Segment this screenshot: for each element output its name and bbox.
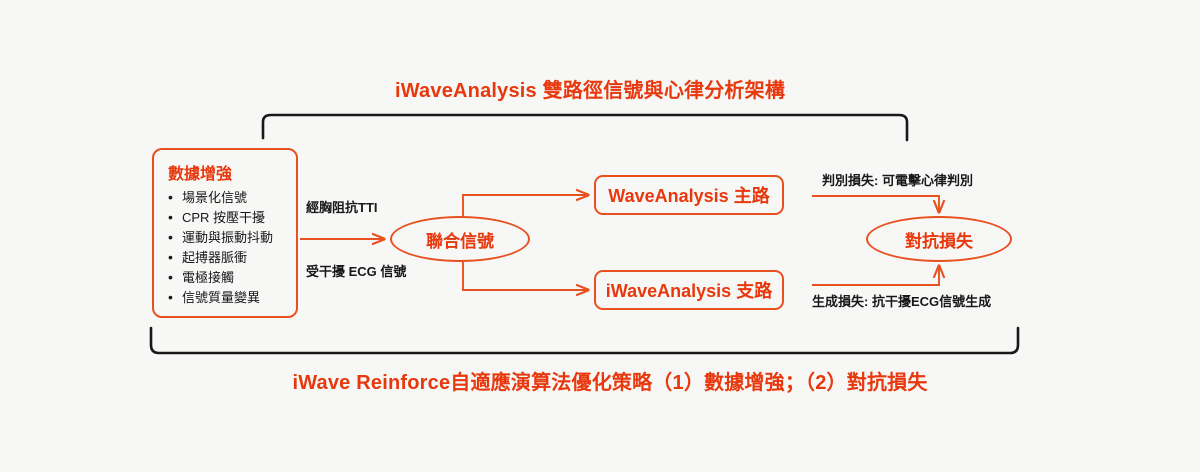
node-main-branch: WaveAnalysis 主路: [594, 175, 784, 215]
node-adversarial-loss: 對抗損失: [866, 216, 1012, 262]
data-augmentation-title: 數據增強: [168, 160, 288, 184]
data-augmentation-list: 場景化信號 CPR 按壓干擾 運動與振動抖動 起搏器脈衝 電極接觸 信號質量變異: [166, 188, 288, 308]
diagram-title-bottom: iWave Reinforce自適應演算法優化策略（1）數據增強；（2）對抗損失: [0, 366, 1200, 395]
bottom-bracket: [151, 328, 1018, 353]
edge-joint-to-sub: [463, 262, 588, 290]
list-item: CPR 按壓干擾: [166, 208, 288, 228]
node-joint-signal: 聯合信號: [390, 216, 530, 262]
data-augmentation-box: 數據增強 場景化信號 CPR 按壓干擾 運動與振動抖動 起搏器脈衝 電極接觸 信…: [152, 148, 298, 318]
edge-label-noisy-ecg: 受干擾 ECG 信號: [306, 261, 406, 280]
edge-label-generative-loss: 生成損失: 抗干擾ECG信號生成: [812, 291, 991, 310]
diagram-title-top: iWaveAnalysis 雙路徑信號與心律分析架構: [0, 74, 1180, 103]
edge-label-discriminative-loss: 判別損失: 可電擊心律判別: [822, 170, 973, 189]
list-item: 運動與振動抖動: [166, 228, 288, 248]
list-item: 場景化信號: [166, 188, 288, 208]
diagram-canvas: iWaveAnalysis 雙路徑信號與心律分析架構 數據增強 場景化信號 CP…: [0, 0, 1200, 472]
list-item: 電極接觸: [166, 268, 288, 288]
top-bracket: [263, 115, 907, 140]
list-item: 起搏器脈衝: [166, 248, 288, 268]
node-sub-branch: iWaveAnalysis 支路: [594, 270, 784, 310]
edge-sub-to-adv: [812, 266, 939, 285]
list-item: 信號質量變異: [166, 288, 288, 308]
edge-main-to-adv: [812, 196, 939, 212]
edge-joint-to-main: [463, 195, 588, 216]
edge-label-tti: 經胸阻抗TTI: [306, 197, 378, 216]
